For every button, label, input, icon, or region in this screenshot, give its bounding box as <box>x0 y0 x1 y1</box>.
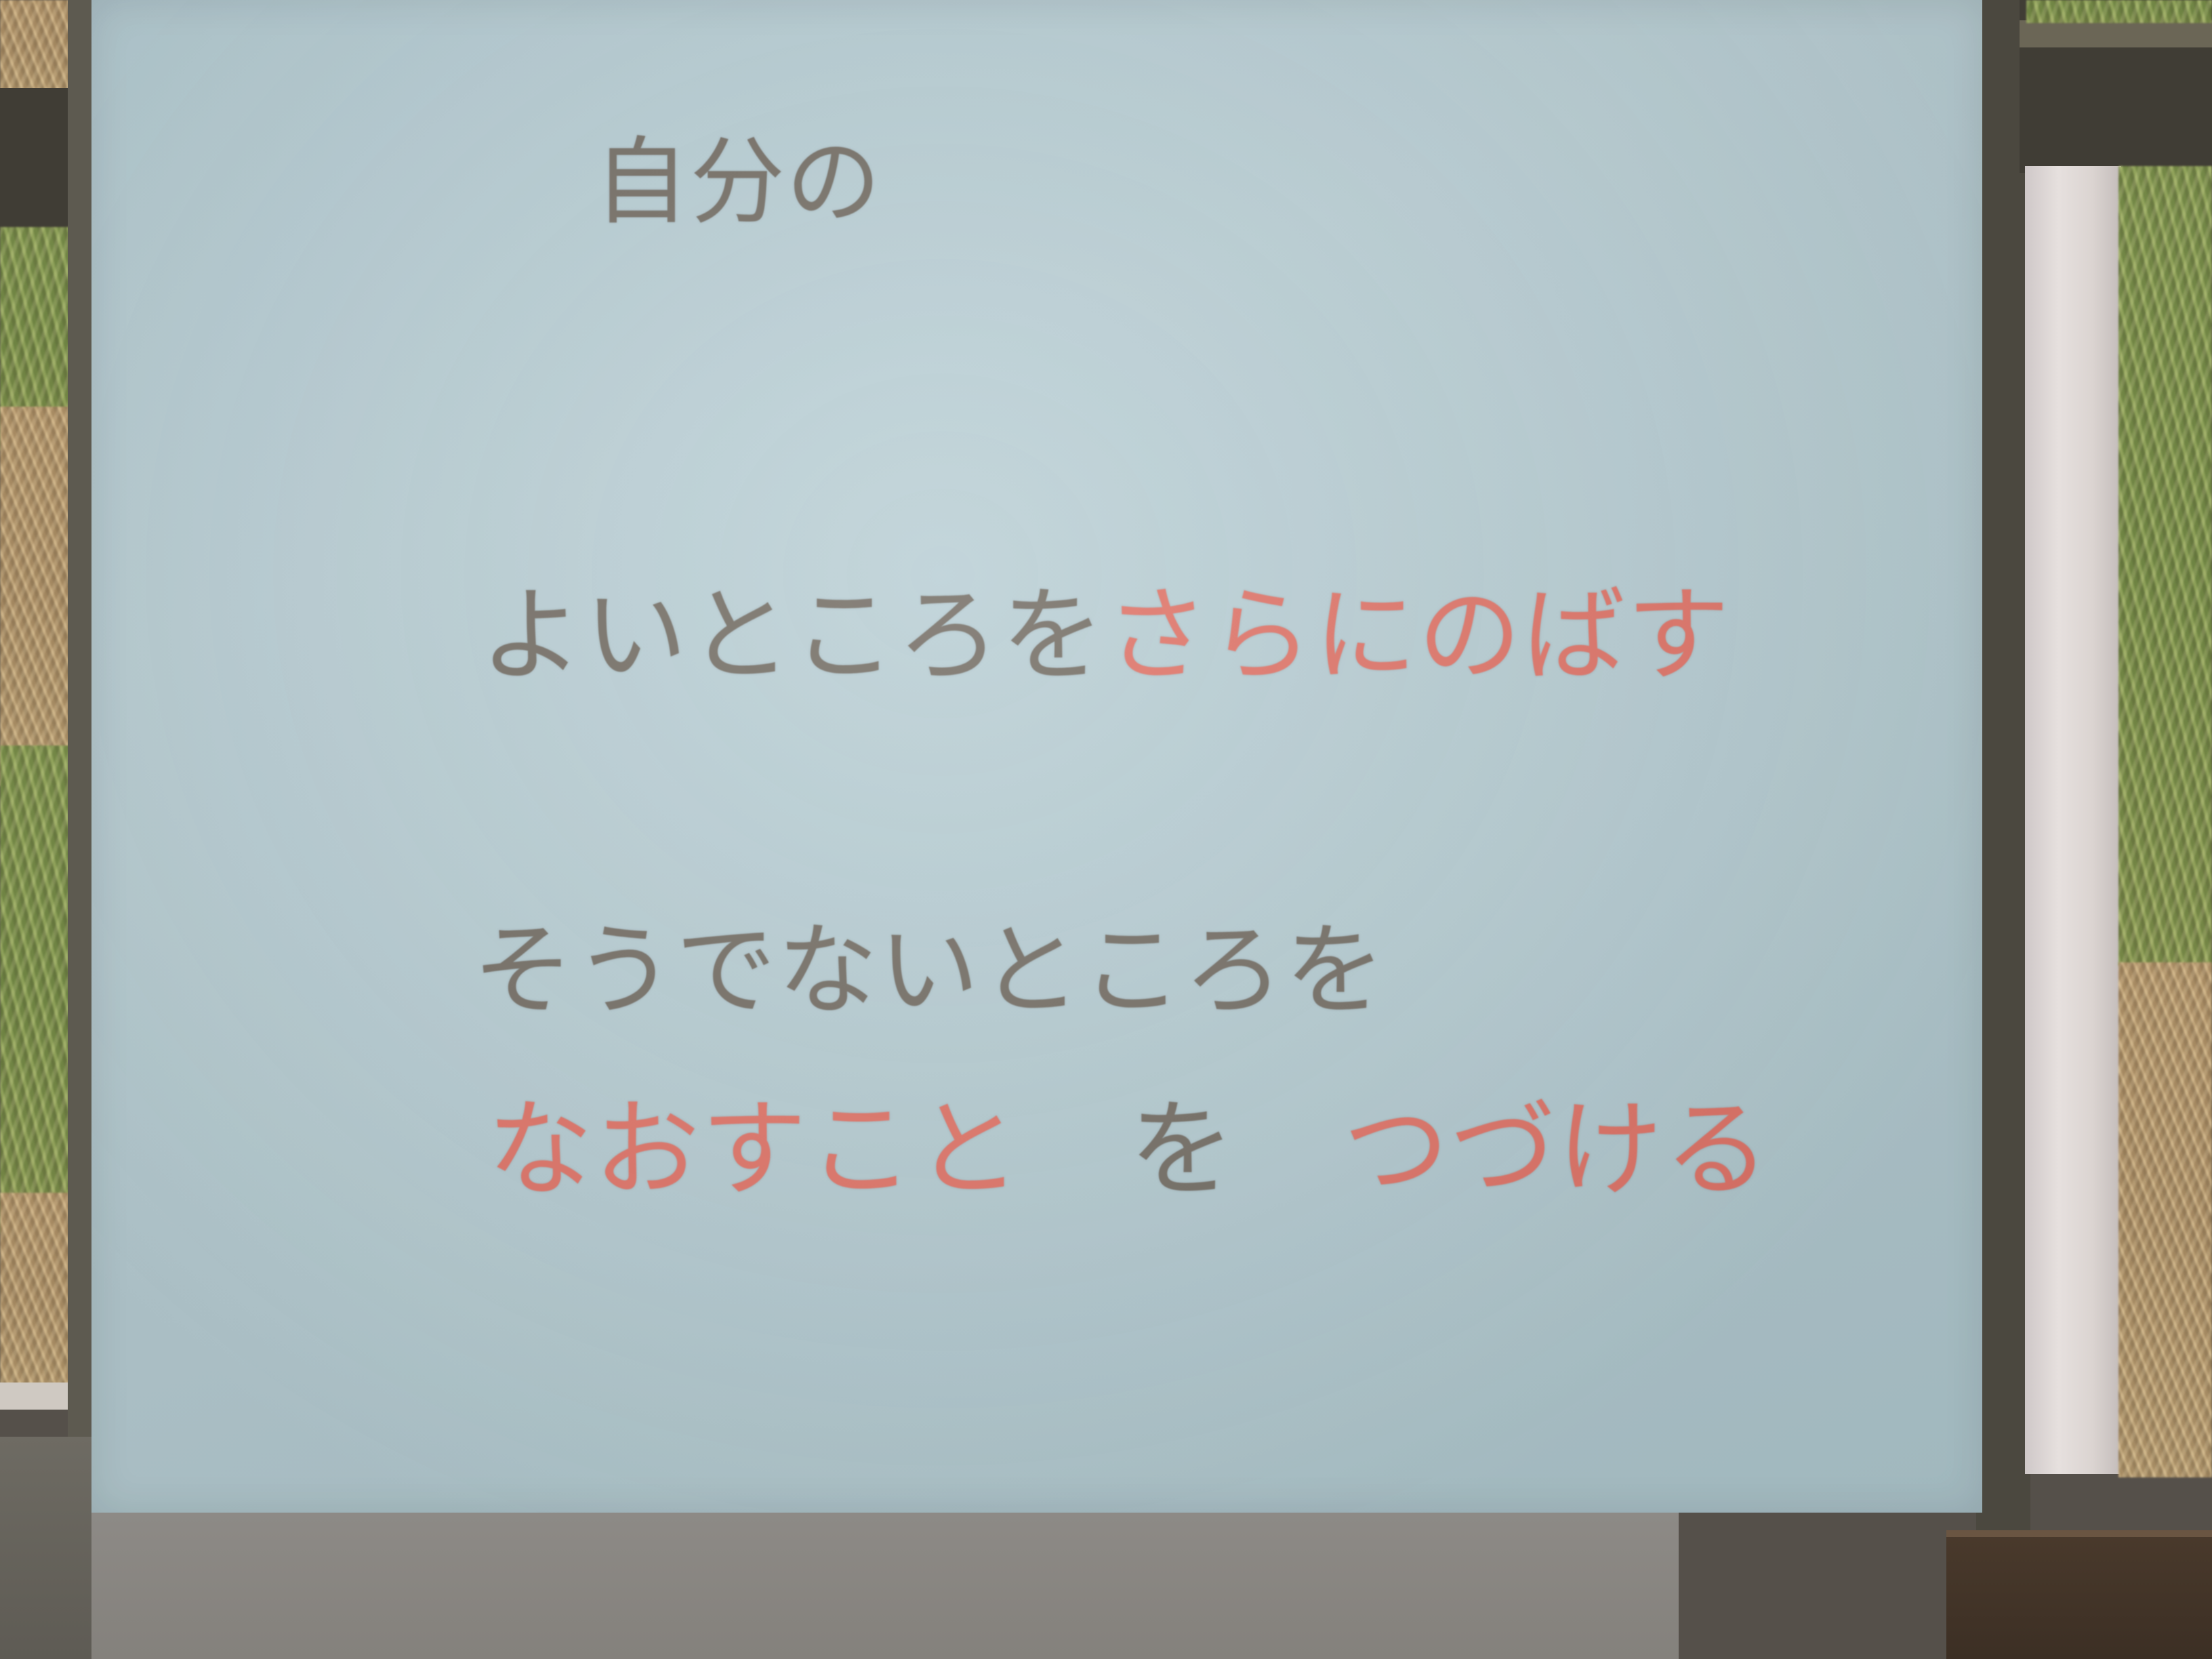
outdoor-vegetation-left-lower <box>0 745 75 1233</box>
slide-line-4-segment-red-2: つづける <box>1343 1088 1771 1211</box>
slide-line-1: 自分の <box>344 41 882 325</box>
outdoor-vegetation-right <box>2118 166 2212 966</box>
outdoor-vegetation-left-mid <box>0 407 75 786</box>
slide-line-1-segment-gray: 自分の <box>594 127 882 238</box>
outdoor-vegetation-right-low <box>2118 962 2212 1477</box>
dark-furniture-edge-highlight <box>1946 1530 2212 1537</box>
slide-line-2: よいところをさらにのばす <box>208 481 1731 790</box>
screenshot-root: 自分の よいところをさらにのばす そうでないところを なおすこと を つづける <box>0 0 2212 1659</box>
window-frame-left-rail-top <box>0 88 75 230</box>
dark-furniture-bottom-right <box>1946 1530 2212 1659</box>
slide-line-4-segment-red-1: なおすこと <box>487 1088 1022 1211</box>
outdoor-vegetation-left-bottom <box>0 1193 75 1396</box>
slide-line-4-segment-gray: を <box>1022 1088 1343 1211</box>
window-frame-right-transom <box>2020 20 2212 47</box>
projection-screen: 自分の よいところをさらにのばす そうでないところを なおすこと を つづける <box>91 0 1982 1513</box>
exterior-pillar <box>2025 166 2121 1474</box>
slide-line-2-segment-red: さらにのばす <box>1105 575 1731 695</box>
window-frame-right-mullion <box>1976 0 2030 1659</box>
outdoor-vegetation-left-top <box>0 0 75 95</box>
slide-line-2-segment-gray: よいところを <box>480 575 1105 695</box>
slide-line-4: なおすこと を つづける <box>208 991 1771 1308</box>
outdoor-vegetation-top-right <box>2026 0 2212 23</box>
wall-below-screen <box>91 1513 1679 1659</box>
